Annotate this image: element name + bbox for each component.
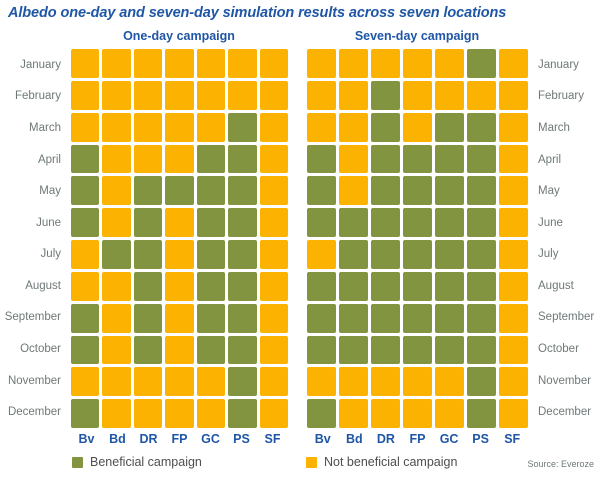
heatmap-cell: [467, 304, 496, 333]
heatmap-cell: [134, 49, 162, 78]
legend-item-beneficial: Beneficial campaign: [72, 455, 202, 469]
panel-heading-one-day: One-day campaign: [70, 29, 288, 43]
heatmap-cell: [102, 81, 130, 110]
heatmap-cell: [102, 145, 130, 174]
heatmap-cell: [71, 304, 99, 333]
heatmap-cell: [134, 176, 162, 205]
legend-swatch-beneficial-icon: [72, 457, 83, 468]
heatmap-cell: [197, 176, 225, 205]
heatmap-cell: [260, 272, 288, 301]
x-tick-dr: DR: [133, 430, 164, 448]
heatmap-cell: [499, 49, 528, 78]
heatmap-cell: [467, 49, 496, 78]
heatmap-cell: [165, 399, 193, 428]
heatmap-cell: [499, 81, 528, 110]
heatmap-cell: [102, 208, 130, 237]
x-tick-ps: PS: [465, 430, 497, 448]
heatmap-cell: [260, 399, 288, 428]
month-label-october: October: [533, 333, 600, 365]
heatmap-cell: [197, 49, 225, 78]
heatmap-cell: [260, 240, 288, 269]
heatmap-grid-seven-day: [307, 49, 528, 428]
heatmap-cell: [339, 113, 368, 142]
heatmap-cell: [371, 240, 400, 269]
heatmap-cell: [102, 399, 130, 428]
heatmap-cell: [371, 176, 400, 205]
heatmap-cell: [228, 208, 256, 237]
heatmap-cell: [71, 399, 99, 428]
month-label-may: May: [0, 175, 66, 207]
heatmap-cell: [435, 176, 464, 205]
heatmap-cell: [260, 113, 288, 142]
x-axis-right: BvBdDRFPGCPSSF: [307, 430, 528, 448]
heatmap-cell: [499, 399, 528, 428]
month-label-october: October: [0, 333, 66, 365]
heatmap-cell: [371, 49, 400, 78]
heatmap-cell: [228, 336, 256, 365]
heatmap-cell: [134, 399, 162, 428]
heatmap-cell: [197, 145, 225, 174]
heatmap-cell: [260, 81, 288, 110]
heatmap-cell: [467, 113, 496, 142]
month-label-february: February: [0, 81, 66, 113]
heatmap-cell: [307, 113, 336, 142]
heatmap-cell: [197, 336, 225, 365]
heatmap-cell: [499, 304, 528, 333]
month-label-december: December: [0, 396, 66, 428]
heatmap-cell: [371, 367, 400, 396]
heatmap-cell: [499, 208, 528, 237]
heatmap-cell: [260, 49, 288, 78]
heatmap-cell: [134, 272, 162, 301]
x-tick-bd: Bd: [102, 430, 133, 448]
heatmap-cell: [371, 304, 400, 333]
heatmap-cell: [228, 145, 256, 174]
heatmap-cell: [339, 272, 368, 301]
heatmap-cell: [228, 367, 256, 396]
page-title: Albedo one-day and seven-day simulation …: [8, 5, 506, 21]
heatmap-cell: [134, 113, 162, 142]
month-axis-right: JanuaryFebruaryMarchAprilMayJuneJulyAugu…: [533, 49, 600, 428]
heatmap-cell: [339, 367, 368, 396]
heatmap-cell: [307, 367, 336, 396]
heatmap-cell: [339, 176, 368, 205]
x-tick-gc: GC: [195, 430, 226, 448]
heatmap-cell: [102, 240, 130, 269]
heatmap-cell: [134, 336, 162, 365]
heatmap-cell: [260, 304, 288, 333]
heatmap-cell: [435, 367, 464, 396]
x-tick-bv: Bv: [307, 430, 339, 448]
month-label-january: January: [533, 49, 600, 81]
heatmap-cell: [165, 81, 193, 110]
month-label-april: April: [533, 144, 600, 176]
heatmap-cell: [134, 304, 162, 333]
legend-swatch-not-beneficial-icon: [306, 457, 317, 468]
month-label-november: November: [533, 365, 600, 397]
heatmap-cell: [403, 176, 432, 205]
heatmap-cell: [102, 367, 130, 396]
month-label-june: June: [0, 207, 66, 239]
heatmap-cell: [71, 240, 99, 269]
heatmap-grid-one-day: [71, 49, 288, 428]
month-label-july: July: [533, 239, 600, 271]
month-axis-left: JanuaryFebruaryMarchAprilMayJuneJulyAugu…: [0, 49, 66, 428]
heatmap-cell: [467, 176, 496, 205]
heatmap-cell: [403, 240, 432, 269]
heatmap-cell: [371, 113, 400, 142]
x-tick-sf: SF: [257, 430, 288, 448]
heatmap-cell: [228, 113, 256, 142]
heatmap-cell: [228, 176, 256, 205]
heatmap-cell: [260, 208, 288, 237]
x-tick-fp: FP: [164, 430, 195, 448]
heatmap-cell: [499, 113, 528, 142]
heatmap-cell: [307, 208, 336, 237]
heatmap-cell: [371, 145, 400, 174]
heatmap-cell: [499, 176, 528, 205]
heatmap-cell: [339, 208, 368, 237]
month-label-january: January: [0, 49, 66, 81]
month-label-november: November: [0, 365, 66, 397]
heatmap-cell: [435, 304, 464, 333]
heatmap-cell: [71, 336, 99, 365]
heatmap-cell: [339, 304, 368, 333]
heatmap-cell: [403, 113, 432, 142]
heatmap-cell: [165, 176, 193, 205]
heatmap-cell: [260, 145, 288, 174]
heatmap-cell: [197, 272, 225, 301]
heatmap-cell: [403, 336, 432, 365]
heatmap-cell: [165, 367, 193, 396]
heatmap-cell: [71, 49, 99, 78]
x-tick-dr: DR: [370, 430, 402, 448]
heatmap-cell: [260, 176, 288, 205]
panel-heading-seven-day: Seven-day campaign: [306, 29, 528, 43]
heatmap-cell: [260, 367, 288, 396]
heatmap-cell: [197, 240, 225, 269]
heatmap-cell: [371, 81, 400, 110]
heatmap-cell: [435, 113, 464, 142]
month-label-december: December: [533, 396, 600, 428]
heatmap-cell: [134, 208, 162, 237]
heatmap-cell: [435, 145, 464, 174]
heatmap-cell: [435, 81, 464, 110]
legend-label-beneficial: Beneficial campaign: [90, 455, 202, 469]
heatmap-cell: [499, 367, 528, 396]
heatmap-cell: [339, 240, 368, 269]
month-label-february: February: [533, 81, 600, 113]
heatmap-cell: [197, 113, 225, 142]
heatmap-cell: [197, 399, 225, 428]
heatmap-cell: [499, 240, 528, 269]
heatmap-cell: [165, 304, 193, 333]
heatmap-cell: [435, 336, 464, 365]
heatmap-cell: [307, 49, 336, 78]
x-tick-bv: Bv: [71, 430, 102, 448]
heatmap-cell: [102, 49, 130, 78]
heatmap-cell: [71, 367, 99, 396]
heatmap-cell: [165, 240, 193, 269]
heatmap-cell: [71, 272, 99, 301]
month-label-march: March: [533, 112, 600, 144]
month-label-august: August: [0, 270, 66, 302]
x-axis-left: BvBdDRFPGCPSSF: [71, 430, 288, 448]
legend-label-not-beneficial: Not beneficial campaign: [324, 455, 457, 469]
heatmap-cell: [228, 399, 256, 428]
x-tick-sf: SF: [496, 430, 528, 448]
heatmap-cell: [71, 208, 99, 237]
month-label-april: April: [0, 144, 66, 176]
heatmap-cell: [467, 367, 496, 396]
heatmap-cell: [260, 336, 288, 365]
heatmap-cell: [165, 272, 193, 301]
heatmap-cell: [71, 113, 99, 142]
heatmap-cell: [467, 81, 496, 110]
heatmap-cell: [307, 240, 336, 269]
heatmap-cell: [499, 272, 528, 301]
chart-figure: Albedo one-day and seven-day simulation …: [0, 0, 600, 493]
panel-headings: One-day campaign Seven-day campaign: [0, 29, 600, 47]
heatmap-cell: [102, 304, 130, 333]
heatmap-cell: [71, 145, 99, 174]
month-label-may: May: [533, 175, 600, 207]
heatmap-cell: [403, 49, 432, 78]
heatmap-cell: [197, 304, 225, 333]
heatmap-cell: [403, 272, 432, 301]
heatmap-cell: [134, 240, 162, 269]
heatmap-cell: [307, 272, 336, 301]
heatmap-cell: [228, 240, 256, 269]
heatmap-cell: [134, 81, 162, 110]
month-label-august: August: [533, 270, 600, 302]
heatmap-cell: [165, 336, 193, 365]
month-label-june: June: [533, 207, 600, 239]
heatmap-cell: [467, 336, 496, 365]
heatmap-cell: [435, 399, 464, 428]
heatmap-cell: [467, 240, 496, 269]
source-credit: Source: Everoze: [527, 459, 594, 469]
heatmap-cell: [339, 145, 368, 174]
heatmap-cell: [228, 272, 256, 301]
heatmap-cell: [371, 208, 400, 237]
heatmap-cell: [134, 145, 162, 174]
heatmap-cell: [499, 145, 528, 174]
x-tick-gc: GC: [433, 430, 465, 448]
heatmap-cell: [228, 304, 256, 333]
x-tick-fp: FP: [402, 430, 434, 448]
heatmap-cell: [134, 367, 162, 396]
heatmap-cell: [371, 272, 400, 301]
heatmap-cell: [339, 49, 368, 78]
heatmap-cell: [102, 176, 130, 205]
heatmap-cell: [435, 208, 464, 237]
heatmap-cell: [197, 367, 225, 396]
heatmap-cell: [102, 336, 130, 365]
heatmap-cell: [339, 81, 368, 110]
heatmap-cell: [403, 367, 432, 396]
heatmap-cell: [307, 176, 336, 205]
heatmap-cell: [467, 208, 496, 237]
heatmap-cell: [403, 145, 432, 174]
month-label-march: March: [0, 112, 66, 144]
heatmap-cell: [71, 176, 99, 205]
legend: Beneficial campaign Not beneficial campa…: [0, 455, 600, 475]
month-label-september: September: [533, 302, 600, 334]
heatmap-cell: [403, 81, 432, 110]
heatmap-cell: [307, 145, 336, 174]
heatmap-cell: [165, 113, 193, 142]
heatmap-cell: [197, 208, 225, 237]
heatmap-cell: [403, 399, 432, 428]
heatmap-cell: [228, 49, 256, 78]
heatmap-cell: [467, 272, 496, 301]
heatmap-cell: [435, 272, 464, 301]
x-tick-ps: PS: [226, 430, 257, 448]
heatmap-cell: [403, 208, 432, 237]
heatmap-cell: [71, 81, 99, 110]
heatmap-cell: [435, 240, 464, 269]
heatmap-cell: [467, 399, 496, 428]
heatmap-cell: [165, 208, 193, 237]
heatmap-cell: [339, 336, 368, 365]
heatmap-cell: [307, 304, 336, 333]
heatmap-cell: [102, 272, 130, 301]
heatmap-cell: [307, 399, 336, 428]
heatmap-cell: [467, 145, 496, 174]
heatmap-cell: [403, 304, 432, 333]
heatmap-cell: [102, 113, 130, 142]
heatmap-cell: [307, 336, 336, 365]
month-label-july: July: [0, 239, 66, 271]
legend-item-not-beneficial: Not beneficial campaign: [306, 455, 457, 469]
heatmap-cell: [371, 336, 400, 365]
heatmap-cell: [307, 81, 336, 110]
heatmap-cell: [165, 49, 193, 78]
heatmap-cell: [197, 81, 225, 110]
x-tick-bd: Bd: [339, 430, 371, 448]
heatmap-cell: [165, 145, 193, 174]
heatmap-cell: [435, 49, 464, 78]
heatmap-cell: [499, 336, 528, 365]
heatmap-cell: [339, 399, 368, 428]
month-label-september: September: [0, 302, 66, 334]
heatmap-cell: [228, 81, 256, 110]
heatmap-cell: [371, 399, 400, 428]
